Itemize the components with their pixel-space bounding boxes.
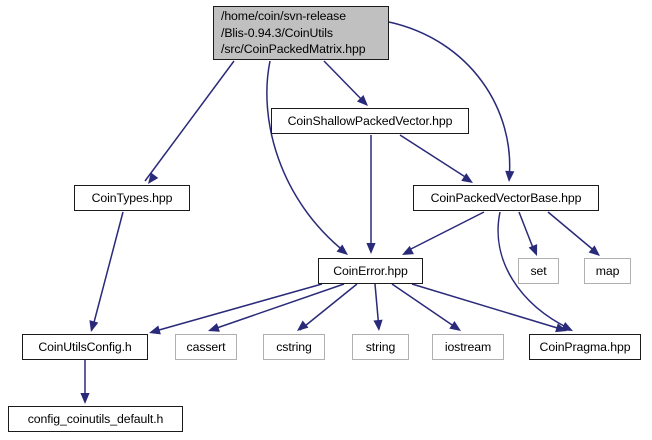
node-defaultcfg[interactable]: config_coinutils_default.h [8, 406, 183, 432]
edge-error-to-string [375, 284, 379, 329]
edge-pvbase-to-set [519, 212, 535, 253]
arrowhead-error-to-cstring [294, 321, 308, 335]
node-iostream[interactable]: iostream [432, 334, 504, 360]
node-map[interactable]: map [584, 258, 631, 284]
edge-shallow-to-pvbase [400, 135, 470, 180]
node-shallow[interactable]: CoinShallowPackedVector.hpp [271, 108, 469, 134]
edge-layer [0, 0, 652, 440]
edge-error-to-iostream [392, 284, 458, 329]
node-types[interactable]: CoinTypes.hpp [74, 185, 190, 211]
node-cassert[interactable]: cassert [175, 334, 237, 360]
node-error[interactable]: CoinError.hpp [318, 258, 423, 284]
edge-types-to-config [92, 212, 123, 330]
node-set[interactable]: set [518, 258, 559, 284]
node-cstring[interactable]: cstring [263, 334, 325, 360]
arrowhead-error-to-iostream [449, 321, 463, 335]
arrowhead-root-to-pvbase [504, 171, 514, 183]
edge-error-to-config [152, 284, 322, 332]
arrowhead-pvbase-to-set [529, 244, 542, 258]
arrowhead-types-to-config [87, 320, 99, 333]
include-dependency-graph: /home/coin/svn-release /Blis-0.94.3/Coin… [0, 0, 652, 440]
arrowhead-error-to-string [373, 320, 383, 332]
node-pragma[interactable]: CoinPragma.hpp [529, 334, 641, 360]
edge-root-to-shallow [324, 61, 365, 103]
node-config[interactable]: CoinUtilsConfig.h [22, 334, 148, 360]
node-root[interactable]: /home/coin/svn-release /Blis-0.94.3/Coin… [213, 6, 389, 60]
edge-pvbase-to-error [405, 212, 484, 252]
edge-root-to-pvbase [389, 22, 510, 180]
node-string[interactable]: string [352, 334, 409, 360]
arrowhead-root-to-error [337, 245, 351, 259]
edge-root-to-types [145, 61, 234, 181]
edge-root-to-error [267, 61, 345, 252]
edge-error-to-pragma [412, 284, 564, 330]
edge-error-to-cassert [211, 284, 344, 330]
arrowhead-error-to-config [148, 326, 161, 338]
arrowhead-config-to-defaultcfg [80, 393, 89, 404]
arrowhead-shallow-to-error [366, 243, 375, 254]
edge-error-to-cstring [300, 284, 357, 330]
node-pvbase[interactable]: CoinPackedVectorBase.hpp [413, 185, 599, 211]
edge-pvbase-to-map [548, 212, 597, 253]
